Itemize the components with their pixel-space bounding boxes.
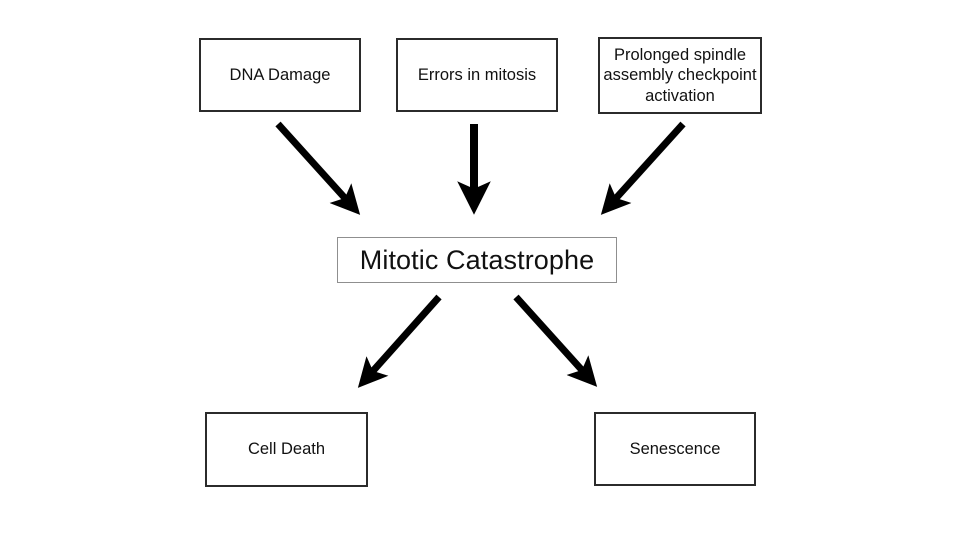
node-errors-in-mitosis[interactable]: Errors in mitosis (396, 38, 558, 112)
node-senescence-label: Senescence (630, 439, 721, 459)
node-dna-damage-label: DNA Damage (230, 65, 331, 85)
arrow-prolonged-spindle-to-mitotic-catastrophe (610, 124, 683, 205)
node-senescence[interactable]: Senescence (594, 412, 756, 486)
arrow-dna-damage-to-mitotic-catastrophe (278, 124, 351, 205)
node-cell-death[interactable]: Cell Death (205, 412, 368, 487)
arrow-mitotic-catastrophe-to-cell-death (367, 297, 439, 378)
node-cell-death-label: Cell Death (248, 439, 325, 459)
node-mitotic-catastrophe-label: Mitotic Catastrophe (360, 244, 595, 277)
node-errors-in-mitosis-label: Errors in mitosis (418, 65, 536, 85)
node-dna-damage[interactable]: DNA Damage (199, 38, 361, 112)
node-prolonged-spindle-assembly-checkpoint-activation-label: Prolonged spindle assembly checkpoint ac… (603, 45, 756, 105)
node-mitotic-catastrophe[interactable]: Mitotic Catastrophe (337, 237, 617, 283)
arrow-mitotic-catastrophe-to-senescence (516, 297, 588, 377)
node-prolonged-spindle-assembly-checkpoint-activation[interactable]: Prolonged spindle assembly checkpoint ac… (598, 37, 762, 114)
diagram-canvas: DNA Damage Errors in mitosis Prolonged s… (0, 0, 960, 540)
